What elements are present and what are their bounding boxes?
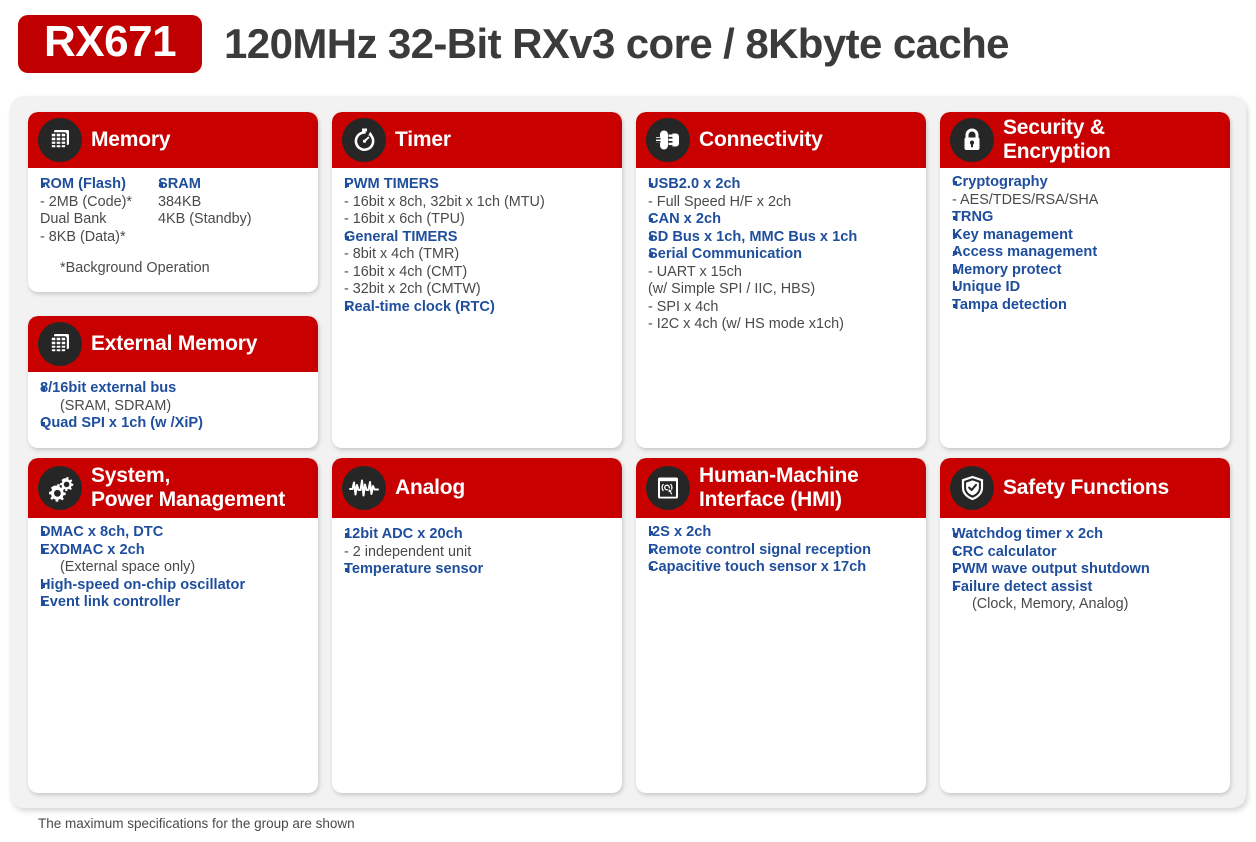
timer-spec-list: PWM TIMERS - 16bit x 8ch, 32bit x 1ch (M… [344, 176, 612, 316]
card-analog[interactable]: Analog 12bit ADC x 20ch - 2 independent … [332, 458, 622, 793]
spec-item: - 32bit x 2ch (CMTW) [344, 281, 612, 299]
chip-name-badge: RX671 [18, 15, 202, 73]
card-hmi-header: Human-Machine Interface (HMI) [636, 458, 926, 518]
card-security-header: Security & Encryption [940, 112, 1230, 168]
spec-item: CRC calculator [952, 544, 1220, 562]
card-hmi[interactable]: Human-Machine Interface (HMI) I2S x 2ch … [636, 458, 926, 793]
card-hmi-body: I2S x 2ch Remote control signal receptio… [636, 518, 926, 583]
spec-item: SD Bus x 1ch, MMC Bus x 1ch [648, 229, 916, 247]
card-security-title-line1: Security & [1003, 116, 1111, 140]
spec-item: USB2.0 x 2ch [648, 176, 916, 194]
shield-check-icon [950, 466, 994, 510]
spec-item: - 16bit x 6ch (TPU) [344, 211, 612, 229]
card-timer-title: Timer [395, 128, 451, 152]
card-memory-header: Memory [28, 112, 318, 168]
spec-item: DMAC x 8ch, DTC [40, 524, 308, 542]
card-system-power-body: DMAC x 8ch, DTC EXDMAC x 2ch (External s… [28, 518, 318, 618]
card-system-power-title-line1: System, [91, 464, 285, 488]
spec-item: (Clock, Memory, Analog) [952, 596, 1220, 614]
spec-item: - AES/TDES/RSA/SHA [952, 192, 1220, 210]
spec-item: 12bit ADC x 20ch [344, 526, 612, 544]
card-hmi-title: Human-Machine Interface (HMI) [699, 464, 859, 511]
safety-spec-list: Watchdog timer x 2ch CRC calculator PWM … [952, 526, 1220, 614]
system-power-spec-list: DMAC x 8ch, DTC EXDMAC x 2ch (External s… [40, 524, 308, 612]
spec-item: Unique ID [952, 279, 1220, 297]
memory-column-rom: ROM (Flash) - 2MB (Code)* Dual Bank - 8K… [40, 176, 158, 246]
card-analog-header: Analog [332, 458, 622, 518]
spec-item: Dual Bank [40, 211, 158, 229]
spec-item: PWM TIMERS [344, 176, 612, 194]
card-hmi-title-line1: Human-Machine [699, 464, 859, 488]
card-timer-header: Timer [332, 112, 622, 168]
card-connectivity-header: Connectivity [636, 112, 926, 168]
card-hmi-title-line2: Interface (HMI) [699, 488, 859, 512]
card-external-memory-header: External Memory [28, 316, 318, 372]
card-system-power-title: System, Power Management [91, 464, 285, 511]
spec-item: - 8KB (Data)* [40, 229, 158, 247]
spec-item: 4KB (Standby) [158, 211, 252, 229]
card-external-memory-body: 8/16bit external bus (SRAM, SDRAM) Quad … [28, 372, 318, 439]
card-safety-header: Safety Functions [940, 458, 1230, 518]
gears-icon [38, 466, 82, 510]
spec-item: I2S x 2ch [648, 524, 916, 542]
spec-item: - UART x 15ch [648, 264, 916, 282]
spec-item: Serial Communication [648, 246, 916, 264]
card-connectivity-body: USB2.0 x 2ch - Full Speed H/F x 2ch CAN … [636, 168, 926, 340]
spec-item: (External space only) [40, 559, 308, 577]
card-safety-body: Watchdog timer x 2ch CRC calculator PWM … [940, 518, 1230, 620]
card-memory-body: ROM (Flash) - 2MB (Code)* Dual Bank - 8K… [28, 168, 318, 284]
card-security[interactable]: Security & Encryption Cryptography - AES… [940, 112, 1230, 448]
card-analog-body: 12bit ADC x 20ch - 2 independent unit Te… [332, 518, 622, 585]
spec-item: PWM wave output shutdown [952, 561, 1220, 579]
spec-item: (w/ Simple SPI / IIC, HBS) [648, 281, 916, 299]
card-security-body: Cryptography - AES/TDES/RSA/SHA TRNG Key… [940, 168, 1230, 320]
spec-item: High-speed on-chip oscillator [40, 577, 308, 595]
spec-item: TRNG [952, 209, 1220, 227]
spec-item: SRAM [158, 176, 252, 194]
card-analog-title: Analog [395, 476, 465, 500]
card-timer[interactable]: Timer PWM TIMERS - 16bit x 8ch, 32bit x … [332, 112, 622, 448]
card-system-power[interactable]: System, Power Management DMAC x 8ch, DTC… [28, 458, 318, 793]
memory-chip-icon [38, 322, 82, 366]
spec-item: 384KB [158, 194, 252, 212]
spec-item: - 2 independent unit [344, 544, 612, 562]
security-spec-list: Cryptography - AES/TDES/RSA/SHA TRNG Key… [952, 174, 1220, 314]
footer-note: The maximum specifications for the group… [38, 816, 355, 831]
spec-item: Memory protect [952, 262, 1220, 280]
spec-item: Temperature sensor [344, 561, 612, 579]
card-memory[interactable]: Memory ROM (Flash) - 2MB (Code)* Dual Ba… [28, 112, 318, 292]
spec-item: Key management [952, 227, 1220, 245]
page-title: 120MHz 32-Bit RXv3 core / 8Kbyte cache [224, 20, 1009, 68]
lock-icon [950, 118, 994, 162]
card-system-power-title-line2: Power Management [91, 488, 285, 512]
touch-screen-icon [646, 466, 690, 510]
spec-item: - 8bit x 4ch (TMR) [344, 246, 612, 264]
spec-item: - 16bit x 4ch (CMT) [344, 264, 612, 282]
card-external-memory[interactable]: External Memory 8/16bit external bus (SR… [28, 316, 318, 448]
spec-item: - 2MB (Code)* [40, 194, 158, 212]
spec-item: Access management [952, 244, 1220, 262]
card-system-power-header: System, Power Management [28, 458, 318, 518]
waveform-icon [342, 466, 386, 510]
spec-item: (SRAM, SDRAM) [40, 398, 308, 416]
card-connectivity-title: Connectivity [699, 128, 823, 152]
spec-item: Event link controller [40, 594, 308, 612]
spec-item: Cryptography [952, 174, 1220, 192]
card-security-title: Security & Encryption [1003, 116, 1111, 163]
external-memory-spec-list: 8/16bit external bus (SRAM, SDRAM) Quad … [40, 380, 308, 433]
card-external-memory-title: External Memory [91, 332, 257, 356]
spec-item: General TIMERS [344, 229, 612, 247]
card-safety-title: Safety Functions [1003, 476, 1169, 500]
slide-root: RX671 120MHz 32-Bit RXv3 core / 8Kbyte c… [0, 0, 1256, 842]
memory-column-sram: SRAM 384KB 4KB (Standby) [158, 176, 252, 246]
spec-item: Failure detect assist [952, 579, 1220, 597]
spec-item: Watchdog timer x 2ch [952, 526, 1220, 544]
spec-item: Remote control signal reception [648, 542, 916, 560]
spec-item: CAN x 2ch [648, 211, 916, 229]
card-safety[interactable]: Safety Functions Watchdog timer x 2ch CR… [940, 458, 1230, 793]
plug-connector-icon [646, 118, 690, 162]
analog-spec-list: 12bit ADC x 20ch - 2 independent unit Te… [344, 526, 612, 579]
connectivity-spec-list: USB2.0 x 2ch - Full Speed H/F x 2ch CAN … [648, 176, 916, 334]
spec-item: ROM (Flash) [40, 176, 158, 194]
card-memory-title: Memory [91, 128, 170, 152]
card-security-title-line2: Encryption [1003, 140, 1111, 164]
card-connectivity[interactable]: Connectivity USB2.0 x 2ch - Full Speed H… [636, 112, 926, 448]
spec-item: - I2C x 4ch (w/ HS mode x1ch) [648, 316, 916, 334]
spec-item: - Full Speed H/F x 2ch [648, 194, 916, 212]
spec-item: Quad SPI x 1ch (w /XiP) [40, 415, 308, 433]
spec-item: 8/16bit external bus [40, 380, 308, 398]
memory-chip-icon [38, 118, 82, 162]
spec-item: - 16bit x 8ch, 32bit x 1ch (MTU) [344, 194, 612, 212]
spec-item: - SPI x 4ch [648, 299, 916, 317]
card-timer-body: PWM TIMERS - 16bit x 8ch, 32bit x 1ch (M… [332, 168, 622, 322]
hmi-spec-list: I2S x 2ch Remote control signal receptio… [648, 524, 916, 577]
page-header: RX671 120MHz 32-Bit RXv3 core / 8Kbyte c… [0, 0, 1256, 88]
memory-footnote: *Background Operation [40, 260, 308, 278]
spec-item: Capacitive touch sensor x 17ch [648, 559, 916, 577]
spec-item: Tampa detection [952, 297, 1220, 315]
spec-item: EXDMAC x 2ch [40, 542, 308, 560]
stopwatch-icon [342, 118, 386, 162]
spec-item: Real-time clock (RTC) [344, 299, 612, 317]
